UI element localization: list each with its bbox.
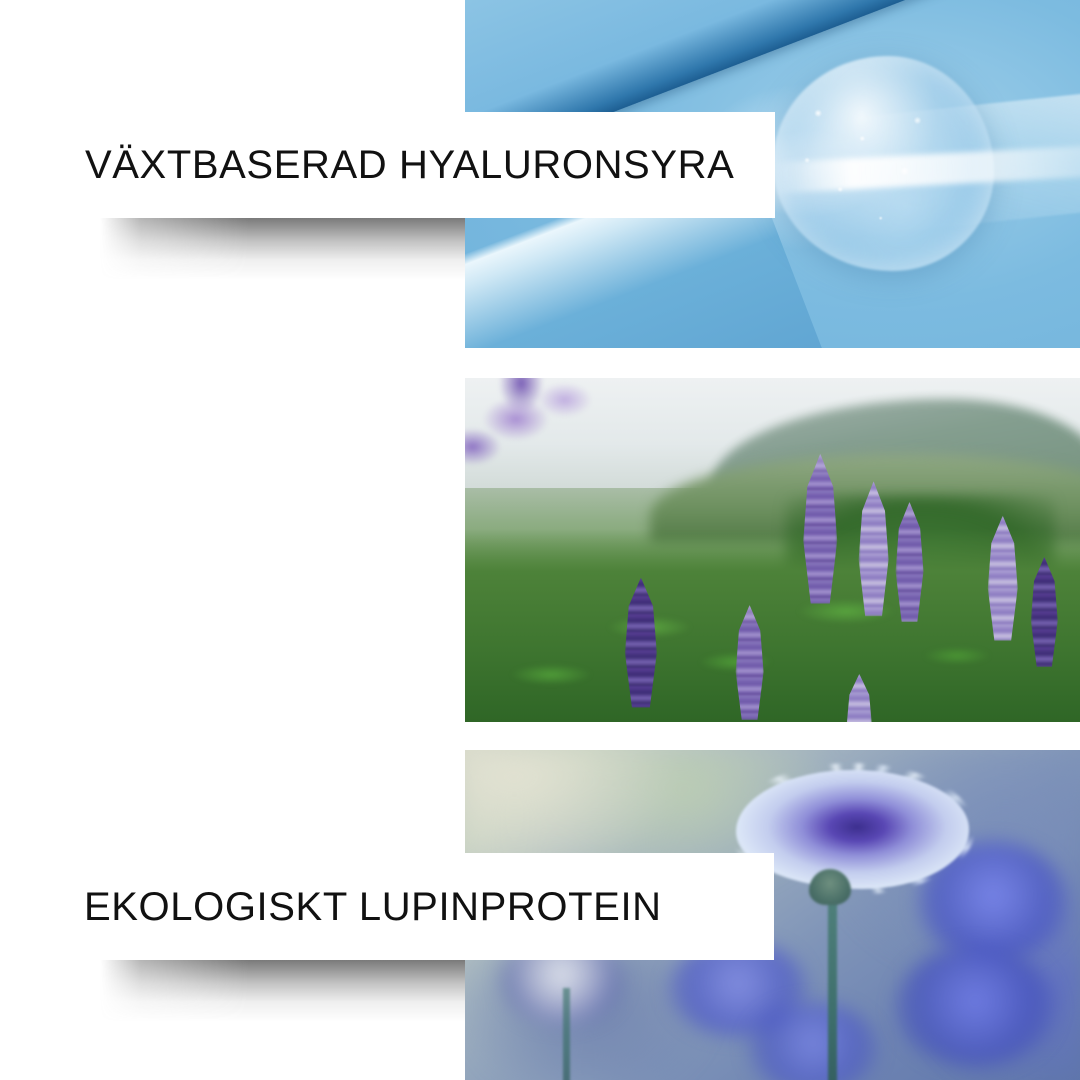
feature-label-hyaluronic-acid: VÄXTBASERAD HYALURONSYRA bbox=[85, 145, 734, 185]
background-stem bbox=[563, 988, 570, 1080]
cornflower-stem bbox=[828, 902, 837, 1080]
feature-row-lupine-protein: EKOLOGISKT LUPINPROTEIN bbox=[0, 378, 1080, 722]
foliage-leaves bbox=[465, 564, 1080, 722]
gel-bubbles bbox=[785, 77, 970, 258]
foreground-lupine-cluster bbox=[465, 378, 711, 502]
background-flower bbox=[895, 947, 1055, 1067]
lupine-protein-photo bbox=[465, 378, 1080, 722]
ingredient-highlights-graphic: VÄXTBASERAD HYALURONSYRA bbox=[0, 0, 1080, 1080]
plate-surface: VÄXTBASERAD HYALURONSYRA bbox=[100, 112, 775, 218]
label-plate-hyaluronic-acid: VÄXTBASERAD HYALURONSYRA bbox=[100, 112, 775, 218]
plate-surface: EKOLOGISKT LUPINPROTEIN bbox=[100, 853, 774, 960]
label-plate-lupine-protein: EKOLOGISKT LUPINPROTEIN bbox=[100, 853, 774, 960]
feature-label-lupine-protein: EKOLOGISKT LUPINPROTEIN bbox=[84, 887, 662, 927]
lupine-field-illustration bbox=[465, 378, 1080, 722]
feature-row-hyaluronic-acid: VÄXTBASERAD HYALURONSYRA bbox=[0, 0, 1080, 348]
